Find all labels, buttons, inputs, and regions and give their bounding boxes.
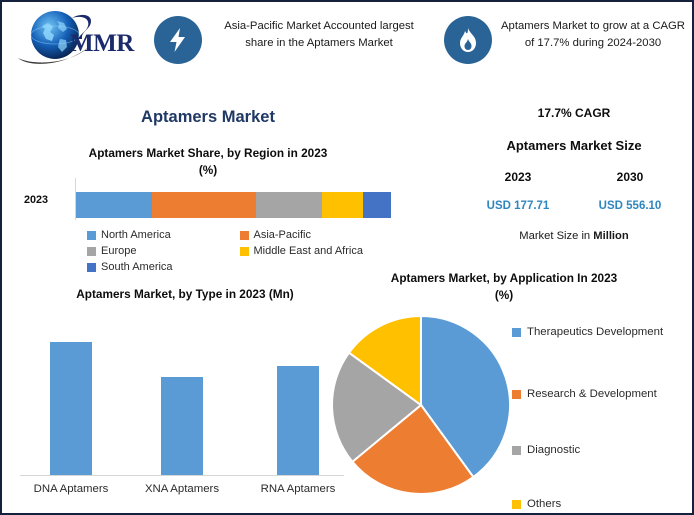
pie-legend-label: Therapeutics Development	[527, 324, 663, 340]
pie-legend-label: Others	[527, 496, 561, 512]
infographic-root: MMR Asia-Pacific Market Accounted larges…	[0, 0, 694, 515]
region-legend-item[interactable]: South America	[87, 259, 392, 275]
region-bar-segment	[322, 192, 363, 218]
legend-swatch-icon	[512, 446, 521, 455]
region-bar-segment	[152, 192, 256, 218]
region-chart-title-line2: (%)	[48, 162, 368, 179]
region-chart-title: Aptamers Market Share, by Region in 2023…	[48, 145, 368, 179]
region-bar-segment	[76, 192, 152, 218]
pie-legend-item[interactable]: Therapeutics Development	[512, 324, 692, 340]
type-chart-axis	[20, 475, 344, 476]
logo-text: MMR	[70, 30, 134, 58]
region-stacked-bar	[76, 192, 391, 218]
value-base: USD 177.71	[470, 200, 566, 212]
market-size-unit-prefix: Market Size in	[519, 230, 593, 242]
region-bar-segment	[363, 192, 391, 218]
region-category-label: 2023	[24, 194, 48, 206]
value-forecast: USD 556.10	[582, 200, 678, 212]
region-legend-label: North America	[101, 229, 171, 241]
pie-chart-title-line1: Aptamers Market, by Application In 2023	[354, 270, 654, 287]
type-bar	[161, 377, 203, 475]
region-legend-label: Europe	[101, 245, 136, 257]
type-axis-label: XNA Aptamers	[127, 483, 237, 495]
region-legend-label: South America	[101, 261, 173, 273]
year-base-label: 2023	[470, 170, 566, 184]
header-highlight-two: Aptamers Market to grow at a CAGR of 17.…	[498, 18, 688, 52]
pie-legend-item[interactable]: Research & Development	[512, 386, 692, 402]
region-legend-label: Middle East and Africa	[254, 245, 363, 257]
cagr-value: 17.7% CAGR	[462, 106, 686, 120]
year-forecast-label: 2030	[582, 170, 678, 184]
company-logo[interactable]: MMR	[16, 8, 144, 70]
market-size-title: Aptamers Market Size	[462, 138, 686, 153]
legend-swatch-icon	[87, 247, 96, 256]
pie-legend-label: Research & Development	[527, 386, 657, 402]
region-legend-item[interactable]: North America	[87, 227, 240, 243]
region-chart-title-line1: Aptamers Market Share, by Region in 2023	[48, 145, 368, 162]
header: MMR Asia-Pacific Market Accounted larges…	[2, 2, 692, 82]
type-axis-label: DNA Aptamers	[16, 483, 126, 495]
pie-chart	[330, 314, 512, 496]
legend-swatch-icon	[240, 231, 249, 240]
region-legend-item[interactable]: Europe	[87, 243, 240, 259]
region-legend-item[interactable]: Asia-Pacific	[240, 227, 393, 243]
type-bar	[277, 366, 319, 475]
page-title: Aptamers Market	[58, 108, 358, 127]
header-highlight-one: Asia-Pacific Market Accounted largest sh…	[210, 18, 428, 52]
flame-icon	[444, 16, 492, 64]
legend-swatch-icon	[512, 500, 521, 509]
type-chart-title: Aptamers Market, by Type in 2023 (Mn)	[20, 287, 350, 301]
lightning-bolt-icon	[154, 16, 202, 64]
type-chart-plot: DNA AptamersXNA AptamersRNA Aptamers	[16, 307, 346, 507]
pie-legend-item[interactable]: Others	[512, 496, 692, 512]
pie-legend-item[interactable]: Diagnostic	[512, 442, 692, 458]
type-bar	[50, 342, 92, 475]
region-chart-plot	[75, 178, 391, 220]
legend-swatch-icon	[512, 328, 521, 337]
legend-swatch-icon	[240, 247, 249, 256]
region-bar-segment	[256, 192, 322, 218]
pie-chart-title: Aptamers Market, by Application In 2023 …	[354, 270, 654, 304]
market-size-unit-bold: Million	[593, 230, 628, 242]
pie-chart-title-line2: (%)	[354, 287, 654, 304]
market-size-unit: Market Size in Million	[462, 230, 686, 242]
legend-swatch-icon	[87, 263, 96, 272]
legend-swatch-icon	[87, 231, 96, 240]
region-chart-legend: North AmericaAsia-PacificEuropeMiddle Ea…	[87, 227, 392, 275]
region-legend-item[interactable]: Middle East and Africa	[240, 243, 393, 259]
legend-swatch-icon	[512, 390, 521, 399]
pie-legend-label: Diagnostic	[527, 442, 580, 458]
region-legend-label: Asia-Pacific	[254, 229, 311, 241]
